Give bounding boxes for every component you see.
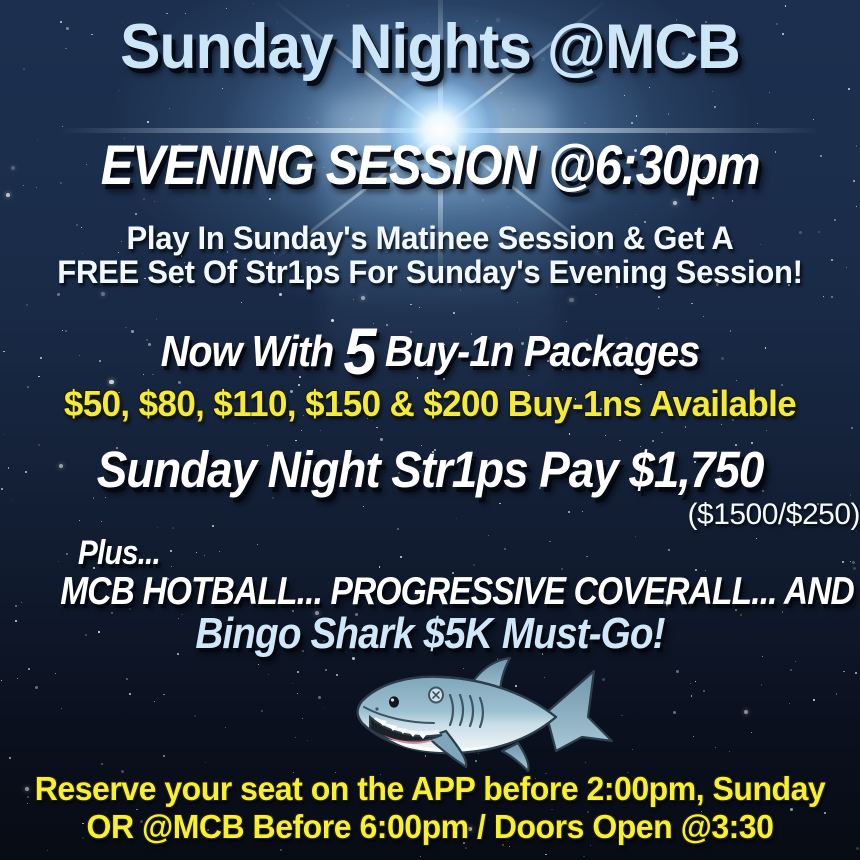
promotional-poster: Sunday Nights @MCB EVENING SESSION @6:30… [0,0,860,860]
plus-label: Plus... [53,536,834,570]
reserve-line-2: OR @MCB Before 6:00pm / Doors Open @3:30 [13,810,847,843]
extras-line: MCB HOTBALL... PROGRESSIVE COVERALL... A… [60,572,800,611]
packages-line: Now With 5 Buy-1n Packages [43,318,817,384]
session-headline: EVENING SESSION @6:30pm [52,137,809,193]
packages-count: 5 [344,314,375,388]
page-title: Sunday Nights @MCB [17,16,843,79]
bingo-shark-line: Bingo Shark $5K Must-Go! [52,612,809,656]
payout-split: ($1500/$250) [0,500,860,530]
shark-icon [350,655,620,780]
packages-prefix: Now With [161,327,334,376]
packages-suffix: Buy-1n Packages [385,327,699,376]
promo-line-2: FREE Set Of Str1ps For Sunday's Evening … [13,256,847,288]
prices-line: $50, $80, $110, $150 & $200 Buy-1ns Avai… [13,386,847,422]
promo-line-1: Play In Sunday's Matinee Session & Get A [13,222,847,254]
payout-line: Sunday Night Str1ps Pay $1,750 [43,444,817,495]
